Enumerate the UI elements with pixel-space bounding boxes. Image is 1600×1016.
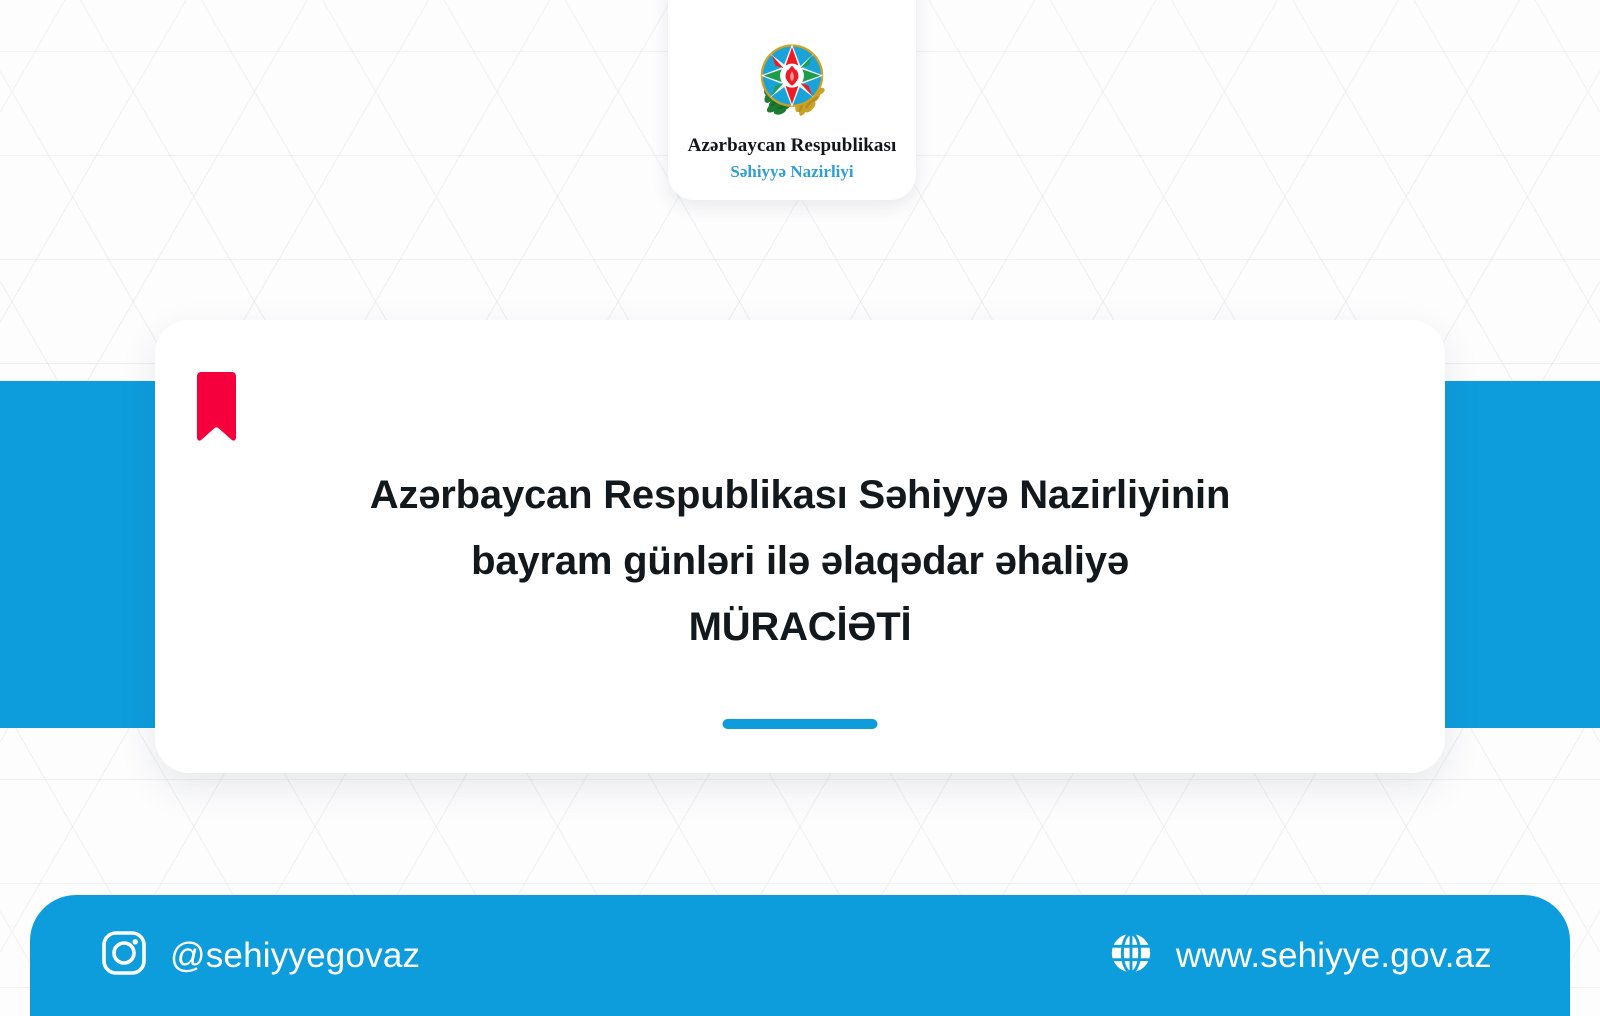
globe-icon[interactable] xyxy=(1108,930,1154,981)
azerbaijan-coat-of-arms-icon xyxy=(746,37,838,129)
ministry-name-line2: Səhiyyə Nazirliyi xyxy=(730,162,853,182)
footer-bar: @sehiyyegovaz www.sehiyye.gov.az xyxy=(30,895,1570,1016)
title-line-2: bayram günləri ilə əlaqədar əhaliyə xyxy=(225,528,1375,594)
announcement-card: Azərbaycan Respublikası Səhiyyə Nazirliy… xyxy=(155,320,1445,773)
ministry-logo-card: Azərbaycan Respublikası Səhiyyə Nazirliy… xyxy=(668,0,916,200)
title-line-1: Azərbaycan Respublikası Səhiyyə Nazirliy… xyxy=(225,462,1375,528)
website-url-text[interactable]: www.sehiyye.gov.az xyxy=(1176,936,1492,976)
title-accent-underline xyxy=(723,719,878,729)
website-url-group[interactable]: www.sehiyye.gov.az xyxy=(1108,930,1492,981)
title-line-3: MÜRACİƏTİ xyxy=(225,594,1375,660)
bookmark-ribbon-icon xyxy=(194,372,239,441)
poster-canvas: Azərbaycan Respublikası Səhiyyə Nazirliy… xyxy=(0,0,1600,1016)
announcement-title: Azərbaycan Respublikası Səhiyyə Nazirliy… xyxy=(155,462,1445,660)
instagram-icon[interactable] xyxy=(100,929,148,982)
instagram-handle-group[interactable]: @sehiyyegovaz xyxy=(100,929,420,982)
instagram-handle-text[interactable]: @sehiyyegovaz xyxy=(170,936,420,976)
ministry-name-line1: Azərbaycan Respublikası xyxy=(688,135,897,157)
